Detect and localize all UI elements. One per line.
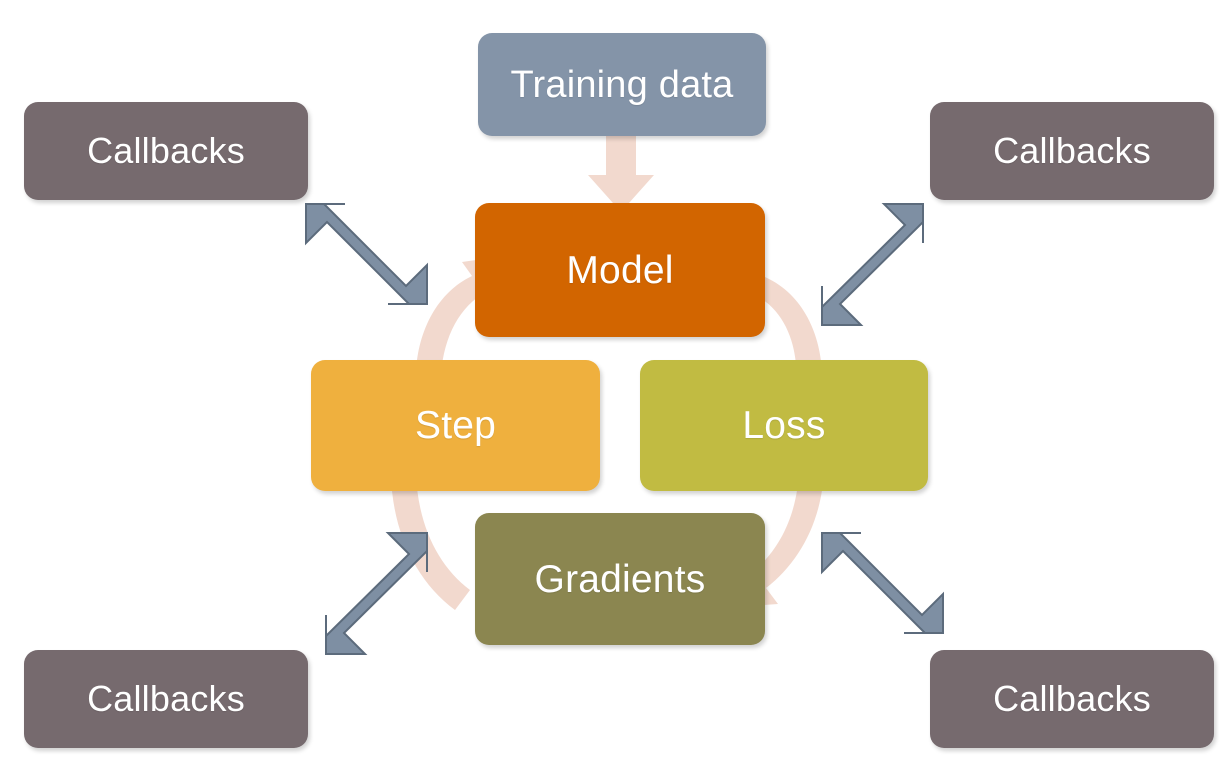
node-callbacks-top-left-label: Callbacks	[87, 133, 245, 169]
node-loss[interactable]: Loss	[640, 360, 928, 491]
node-callbacks-bottom-right-label: Callbacks	[993, 681, 1151, 717]
node-callbacks-bottom-right[interactable]: Callbacks	[930, 650, 1214, 748]
node-training-data-label: Training data	[511, 66, 734, 104]
callback-arrow-bottom-right[interactable]	[822, 533, 943, 633]
node-model-label: Model	[566, 251, 673, 290]
diagram-canvas: Training data Model Step Loss Gradients …	[0, 0, 1229, 777]
node-callbacks-top-left[interactable]: Callbacks	[24, 102, 308, 200]
callback-arrow-top-left[interactable]	[306, 204, 427, 304]
node-step-label: Step	[415, 406, 496, 445]
callback-arrow-top-right[interactable]	[822, 204, 923, 325]
callback-arrow-bottom-left[interactable]	[326, 533, 427, 654]
node-model[interactable]: Model	[475, 203, 765, 337]
node-step[interactable]: Step	[311, 360, 600, 491]
node-gradients[interactable]: Gradients	[475, 513, 765, 645]
node-callbacks-top-right[interactable]: Callbacks	[930, 102, 1214, 200]
node-callbacks-bottom-left-label: Callbacks	[87, 681, 245, 717]
node-loss-label: Loss	[742, 406, 825, 445]
node-gradients-label: Gradients	[535, 560, 706, 599]
node-training-data[interactable]: Training data	[478, 33, 766, 136]
node-callbacks-bottom-left[interactable]: Callbacks	[24, 650, 308, 748]
node-callbacks-top-right-label: Callbacks	[993, 133, 1151, 169]
